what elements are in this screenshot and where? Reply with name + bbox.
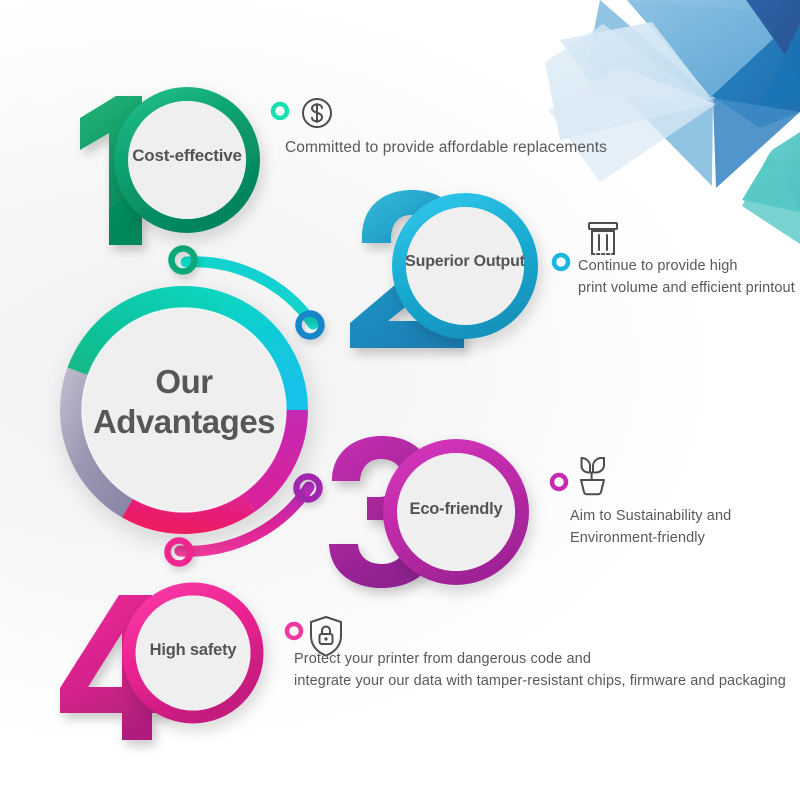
item-4-desc-line-1: Protect your printer from dangerous code… bbox=[294, 648, 786, 670]
infographic-canvas: Cost-effective Superior Output Eco-frien… bbox=[0, 0, 800, 800]
dollar-coin-icon bbox=[303, 99, 331, 127]
decor-triangles bbox=[545, 0, 800, 244]
bullet-marker-3 bbox=[552, 475, 566, 489]
item-3-desc-line-1: Aim to Sustainability and bbox=[570, 505, 731, 527]
potted-plant-icon bbox=[581, 458, 604, 494]
bullet-marker-1 bbox=[273, 104, 287, 118]
bullet-marker-2 bbox=[554, 255, 568, 269]
item-3-desc-line-2: Environment-friendly bbox=[570, 527, 731, 549]
item-4-description: Protect your printer from dangerous code… bbox=[294, 648, 786, 693]
item-1-graphics bbox=[80, 94, 253, 245]
bullet-marker-4 bbox=[287, 624, 301, 638]
item-4-desc-line-2: integrate your our data with tamper-resi… bbox=[294, 670, 786, 692]
center-title-line2: Advantages bbox=[93, 403, 275, 440]
printer-icon bbox=[589, 223, 617, 254]
item-2-desc-line-1: Continue to provide high bbox=[578, 255, 795, 277]
center-title-line1: Our bbox=[155, 363, 212, 400]
item-2-desc-line-2: print volume and efficient printout bbox=[578, 277, 795, 299]
item-4-label: High safety bbox=[115, 641, 271, 660]
item-1-desc-line-1: Committed to provide affordable replacem… bbox=[285, 136, 607, 160]
item-3-label: Eco-friendly bbox=[376, 500, 536, 519]
item-1-description: Committed to provide affordable replacem… bbox=[285, 136, 607, 160]
item-2-label: Superior Output bbox=[385, 253, 545, 271]
item-1-label: Cost-effective bbox=[107, 146, 267, 166]
item-4-graphics bbox=[60, 589, 257, 740]
item-3-description: Aim to Sustainability and Environment-fr… bbox=[570, 505, 731, 550]
item-2-description: Continue to provide high print volume an… bbox=[578, 255, 795, 300]
center-title: Our Advantages bbox=[84, 362, 284, 443]
